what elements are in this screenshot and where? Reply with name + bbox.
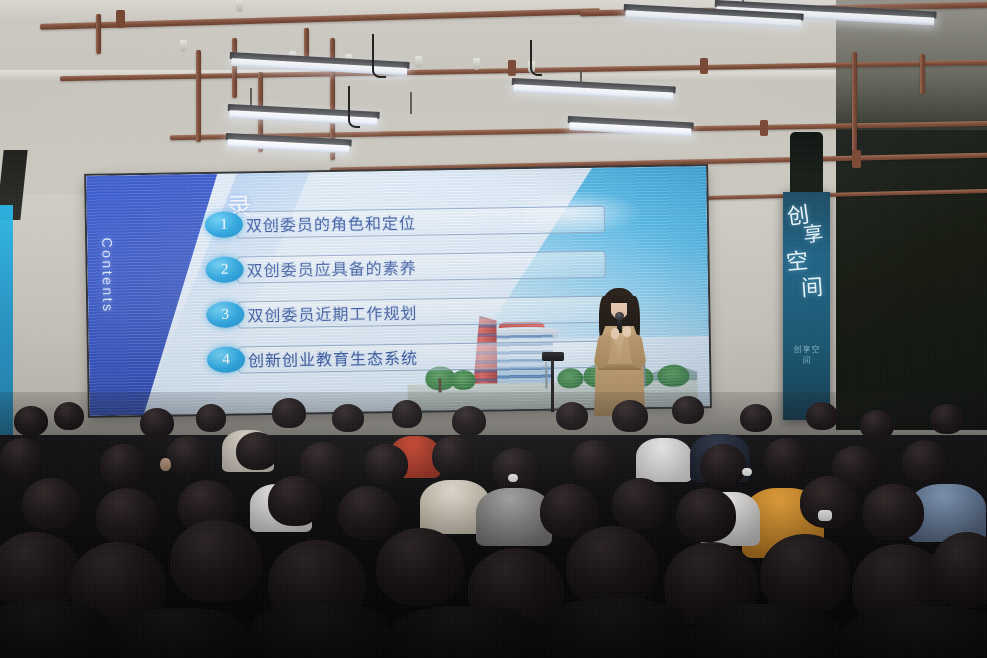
audience-head — [338, 486, 398, 540]
audience-head — [196, 404, 226, 432]
audience-head — [930, 404, 964, 434]
audience-head — [376, 528, 464, 606]
hanging-wire — [372, 34, 386, 78]
list-item[interactable]: 1 双创委员的角色和定位 — [205, 200, 606, 244]
audience-body — [540, 598, 690, 658]
list-item-label: 创新创业教育生态系统 — [239, 345, 418, 372]
audience-area — [0, 392, 987, 658]
audience-head — [166, 436, 210, 476]
audience-head — [806, 402, 838, 430]
audience-head — [452, 406, 486, 436]
audience-head — [170, 520, 262, 602]
audience-head — [862, 484, 924, 540]
sprinkler-pipe-vertical — [920, 54, 925, 94]
hanging-wire — [530, 40, 542, 76]
banner-mount — [790, 132, 823, 194]
list-item-label: 双创委员近期工作规划 — [238, 300, 417, 327]
audience-head — [100, 444, 146, 486]
sprinkler-pipe-vertical — [852, 52, 857, 152]
sprinkler-head-icon — [180, 40, 187, 52]
audience-body — [390, 606, 540, 658]
audience-head — [572, 440, 616, 480]
audience-head — [432, 436, 474, 476]
pipe-joint — [116, 10, 125, 28]
face-mask — [742, 468, 752, 476]
list-item-box: 双创委员的角色和定位 — [236, 205, 605, 238]
list-item[interactable]: 3 双创委员近期工作规划 — [206, 290, 607, 334]
audience-head — [0, 438, 44, 478]
microphone-head-icon — [615, 312, 624, 320]
audience-head — [268, 476, 322, 526]
audience-head — [860, 410, 894, 440]
banner-subtext: 创享空间 — [791, 344, 823, 366]
sprinkler-head-icon — [473, 58, 480, 70]
audience-head — [566, 526, 658, 608]
right-dark-wall — [836, 130, 987, 430]
banner-char: 间 — [800, 269, 824, 302]
audience-head — [556, 402, 588, 430]
sprinkler-pipe-vertical — [196, 50, 201, 142]
audience-head — [96, 488, 158, 544]
pipe-joint — [760, 120, 768, 136]
audience-head — [22, 478, 80, 530]
audience-body — [840, 606, 987, 658]
pipe-joint — [700, 58, 708, 74]
audience-head — [0, 532, 80, 610]
list-item-label: 双创委员的角色和定位 — [237, 210, 416, 237]
audience-head — [492, 448, 540, 490]
face-mask — [508, 474, 518, 482]
audience-head — [272, 398, 306, 428]
pipe-joint — [852, 150, 861, 168]
audience-head — [764, 438, 808, 478]
presenter-hand-left — [611, 328, 619, 339]
audience-head — [140, 408, 174, 438]
audience-head — [612, 478, 668, 530]
audience-head — [332, 404, 364, 432]
tree-shape — [657, 364, 689, 386]
audience-body — [636, 438, 692, 482]
audience-head — [612, 400, 648, 432]
audience-head — [902, 440, 948, 482]
audience-body — [110, 608, 250, 658]
list-item-box: 双创委员应具备的素养 — [236, 250, 605, 283]
audience-body — [690, 604, 840, 658]
sprinkler-head-icon — [236, 0, 243, 12]
face-mask — [818, 510, 832, 521]
audience-head — [364, 444, 408, 484]
audience-head — [676, 488, 736, 542]
audience-head — [740, 404, 772, 432]
vertical-banner: 创 享 空 间 创享空间 — [783, 192, 830, 420]
audience-head — [14, 406, 48, 436]
audience-head — [672, 396, 704, 424]
sprinkler-pipe-vertical — [232, 38, 237, 98]
audience-body — [250, 602, 390, 658]
pipe-joint — [508, 60, 516, 76]
photo-scene: 录 Contents — [0, 0, 987, 658]
sprinkler-head-icon — [415, 56, 422, 68]
list-item-box: 双创委员近期工作规划 — [237, 295, 606, 328]
audience-head — [760, 534, 850, 614]
audience-head — [392, 400, 422, 428]
audience-face — [160, 458, 171, 471]
audience-head — [54, 402, 84, 430]
audience-head — [236, 432, 278, 470]
audience-body — [0, 600, 110, 658]
presenter-hand-right — [623, 326, 631, 337]
fixture-drop-rod — [410, 92, 412, 114]
hanging-wire — [348, 86, 360, 128]
slide-title-en: Contents — [99, 237, 116, 313]
audience-head — [700, 444, 746, 486]
list-item-label: 双创委员应具备的素养 — [237, 255, 416, 282]
list-item[interactable]: 2 双创委员应具备的素养 — [205, 245, 606, 289]
sprinkler-pipe-vertical — [96, 14, 101, 54]
